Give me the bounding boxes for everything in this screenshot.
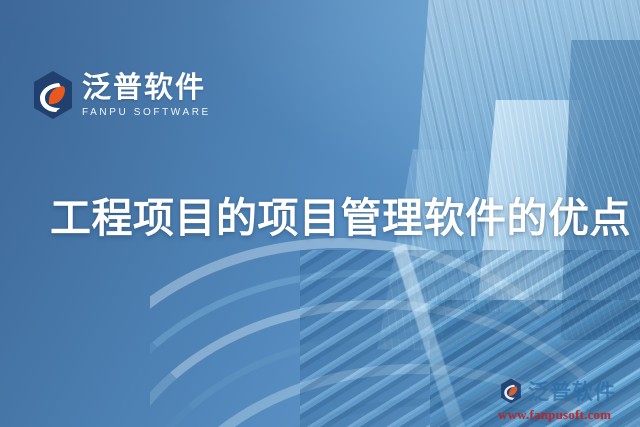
brand-name-en: FANPU SOFTWARE bbox=[82, 108, 211, 118]
banner-image: 泛普软件 FANPU SOFTWARE 工程项目的项目管理软件的优点 泛普软件 … bbox=[0, 0, 640, 427]
watermark: 泛普软件 www.fanpusoft.com bbox=[498, 376, 636, 423]
watermark-url: www.fanpusoft.com bbox=[498, 407, 636, 423]
brand-name-cn: 泛普软件 bbox=[82, 73, 211, 102]
brand-logo-wordmark: 泛普软件 FANPU SOFTWARE bbox=[82, 73, 211, 118]
brand-logo: 泛普软件 FANPU SOFTWARE bbox=[33, 70, 211, 120]
fanpu-hexagon-sail-logo-icon bbox=[33, 70, 73, 120]
fanpu-hexagon-sail-logo-icon bbox=[498, 378, 524, 404]
watermark-brand-name: 泛普软件 bbox=[528, 376, 616, 406]
watermark-logo-row: 泛普软件 bbox=[498, 376, 636, 406]
page-title: 工程项目的项目管理软件的优点 bbox=[50, 184, 631, 244]
